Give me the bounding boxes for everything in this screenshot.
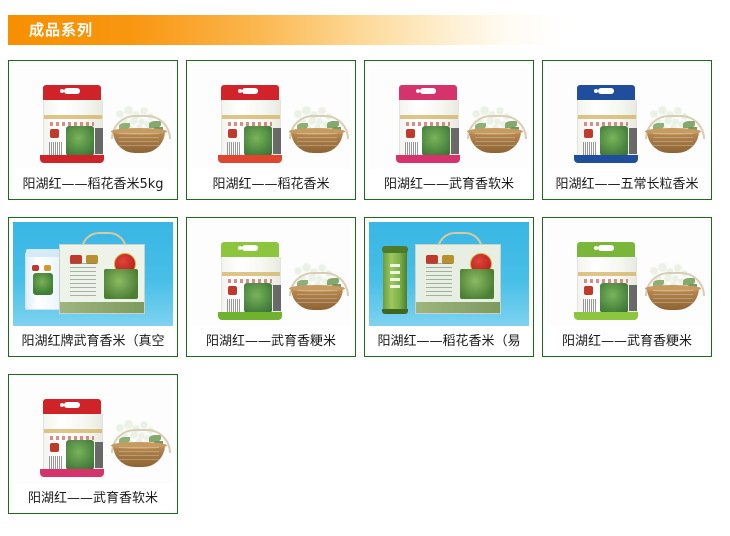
gift-box-description-text <box>426 263 452 297</box>
decor-basket-with-flowers <box>465 107 525 153</box>
bag-gold-band <box>44 115 102 119</box>
product-photo-daohua-xiangmi[interactable] <box>191 65 351 169</box>
bag-seal-mark <box>228 286 237 295</box>
product-photo-wuchang-changli-xiangmi[interactable] <box>547 65 707 169</box>
product-card[interactable]: 阳湖红——武育香粳米 <box>186 217 356 357</box>
bag-logo-graphic <box>66 126 94 156</box>
product-card[interactable]: 阳湖红——稻花香米5kg <box>8 60 178 200</box>
rice-bag-product <box>399 85 457 163</box>
product-row: 阳湖红——武育香软米 <box>8 374 730 514</box>
basket-bowl <box>113 131 165 153</box>
section-title: 成品系列 <box>29 15 93 45</box>
gift-box-front-panel <box>415 244 501 314</box>
bag-body <box>43 414 103 471</box>
product-series-page: 成品系列 阳湖红——稻花香米5kg阳湖红——稻花香米阳湖红——武育香软米阳湖红—… <box>0 0 730 536</box>
gift-box-calligraphy <box>104 269 138 299</box>
product-photo-backdrop <box>547 222 707 326</box>
gift-box-product <box>415 244 501 314</box>
product-caption: 阳湖红——稻花香米 <box>189 169 353 199</box>
product-caption: 阳湖红——武育香粳米 <box>189 326 353 356</box>
gift-box-footer-band <box>416 302 500 313</box>
product-card[interactable]: 阳湖红——稻花香米 <box>186 60 356 200</box>
bag-gold-band <box>578 115 636 119</box>
product-caption: 阳湖红——武育香粳米 <box>545 326 709 356</box>
product-card[interactable]: 阳湖红——武育香软米 <box>8 374 178 514</box>
bag-bottom-band <box>396 155 460 163</box>
bag-seal-mark <box>406 129 415 138</box>
rice-bag-product <box>577 242 635 320</box>
vacuum-pack-logo <box>33 273 53 295</box>
product-row: 阳湖红——稻花香米5kg阳湖红——稻花香米阳湖红——武育香软米阳湖红——五常长粒… <box>8 60 730 200</box>
vacuum-pack-product <box>25 252 61 310</box>
section-header-banner: 成品系列 <box>8 15 565 45</box>
bag-seal-mark <box>228 129 237 138</box>
bag-handle <box>242 245 258 251</box>
bag-seal-mark <box>50 129 59 138</box>
product-caption: 阳湖红——五常长粒香米 <box>545 169 709 199</box>
basket-bowl <box>469 131 521 153</box>
product-photo-backdrop <box>13 65 173 169</box>
rice-bag-product <box>577 85 635 163</box>
bag-body <box>577 100 637 157</box>
bag-handle <box>242 88 258 94</box>
bag-bottom-band <box>574 312 638 320</box>
bag-handle <box>64 88 80 94</box>
bag-body <box>43 100 103 157</box>
vacuum-pack-badge-red <box>32 265 39 271</box>
gift-box-footer-band <box>60 302 144 313</box>
product-photo-wuyu-xiangruanmi[interactable] <box>369 65 529 169</box>
gift-box-product <box>59 244 145 314</box>
basket-bowl <box>647 288 699 310</box>
bag-seal-mark <box>584 286 593 295</box>
rice-bag-product <box>221 242 279 320</box>
product-caption: 阳湖红——武育香软米 <box>11 483 175 513</box>
bag-gold-band <box>578 272 636 276</box>
decor-basket-with-flowers <box>109 107 169 153</box>
product-row: 阳湖红牌武育香米（真空阳湖红——武育香粳米阳湖红——稻花香米（易阳湖红——武育香… <box>8 217 730 357</box>
product-photo-backdrop <box>13 222 173 326</box>
basket-bowl <box>113 445 165 467</box>
decor-basket-with-flowers <box>287 264 347 310</box>
gift-box-description-text <box>70 263 96 297</box>
product-card[interactable]: 阳湖红——五常长粒香米 <box>542 60 712 200</box>
product-photo-backdrop <box>547 65 707 169</box>
decor-basket-with-flowers <box>287 107 347 153</box>
bag-bottom-band <box>40 469 104 477</box>
product-card[interactable]: 阳湖红——武育香软米 <box>364 60 534 200</box>
product-photo-wuyu-xiangruanmi-2[interactable] <box>13 379 173 483</box>
product-photo-backdrop <box>369 65 529 169</box>
bag-handle <box>420 88 436 94</box>
product-photo-backdrop <box>13 379 173 483</box>
decor-basket-with-flowers <box>643 107 703 153</box>
product-photo-daohua-xiangmi-gift[interactable] <box>369 222 529 326</box>
bag-logo-graphic <box>244 126 272 156</box>
rice-bag-product <box>221 85 279 163</box>
product-photo-wuyu-xiangjingmi[interactable] <box>191 222 351 326</box>
bag-logo-graphic <box>600 283 628 313</box>
can-base <box>382 309 408 314</box>
bag-gold-band <box>400 115 458 119</box>
bag-body <box>221 100 281 157</box>
bag-body <box>221 257 281 314</box>
decor-basket-with-flowers <box>643 264 703 310</box>
bag-bottom-band <box>218 312 282 320</box>
product-caption: 阳湖红牌武育香米（真空 <box>11 326 175 356</box>
bag-body <box>577 257 637 314</box>
bag-seal-mark <box>50 443 59 452</box>
bag-logo-graphic <box>600 126 628 156</box>
bag-body <box>399 100 459 157</box>
bag-bottom-band <box>574 155 638 163</box>
can-label-text <box>390 264 400 292</box>
gift-box-front-panel <box>59 244 145 314</box>
bag-logo-graphic <box>422 126 450 156</box>
bag-handle <box>598 245 614 251</box>
product-caption: 阳湖红——武育香软米 <box>367 169 531 199</box>
product-caption: 阳湖红——稻花香米（易 <box>367 326 531 356</box>
vacuum-pack-badge-gold <box>44 265 51 271</box>
product-grid: 阳湖红——稻花香米5kg阳湖红——稻花香米阳湖红——武育香软米阳湖红——五常长粒… <box>8 60 730 531</box>
bag-bottom-band <box>218 155 282 163</box>
bag-bottom-band <box>40 155 104 163</box>
bag-logo-graphic <box>66 440 94 470</box>
basket-bowl <box>291 288 343 310</box>
product-card[interactable]: 阳湖红牌武育香米（真空 <box>8 217 178 357</box>
rice-bag-product <box>43 85 101 163</box>
basket-bowl <box>647 131 699 153</box>
product-photo-backdrop <box>191 222 351 326</box>
cylinder-can-product <box>383 250 407 312</box>
product-photo-backdrop <box>191 65 351 169</box>
bag-gold-band <box>222 272 280 276</box>
product-photo-wuyu-xiangmi-vacuum[interactable] <box>13 222 173 326</box>
rice-bag-product <box>43 399 101 477</box>
vacuum-pack-seal <box>26 249 60 257</box>
bag-handle <box>598 88 614 94</box>
product-card[interactable]: 阳湖红——武育香粳米 <box>542 217 712 357</box>
product-photo-backdrop <box>369 222 529 326</box>
bag-seal-mark <box>584 129 593 138</box>
product-photo-daohua-xiangmi-5kg[interactable] <box>13 65 173 169</box>
bag-handle <box>64 402 80 408</box>
gift-box-calligraphy <box>460 269 494 299</box>
can-lid <box>382 246 408 253</box>
bag-logo-graphic <box>244 283 272 313</box>
product-photo-wuyu-xiangjingmi-2[interactable] <box>547 222 707 326</box>
product-card[interactable]: 阳湖红——稻花香米（易 <box>364 217 534 357</box>
basket-bowl <box>291 131 343 153</box>
product-caption: 阳湖红——稻花香米5kg <box>11 169 175 199</box>
bag-gold-band <box>222 115 280 119</box>
bag-gold-band <box>44 429 102 433</box>
decor-basket-with-flowers <box>109 421 169 467</box>
